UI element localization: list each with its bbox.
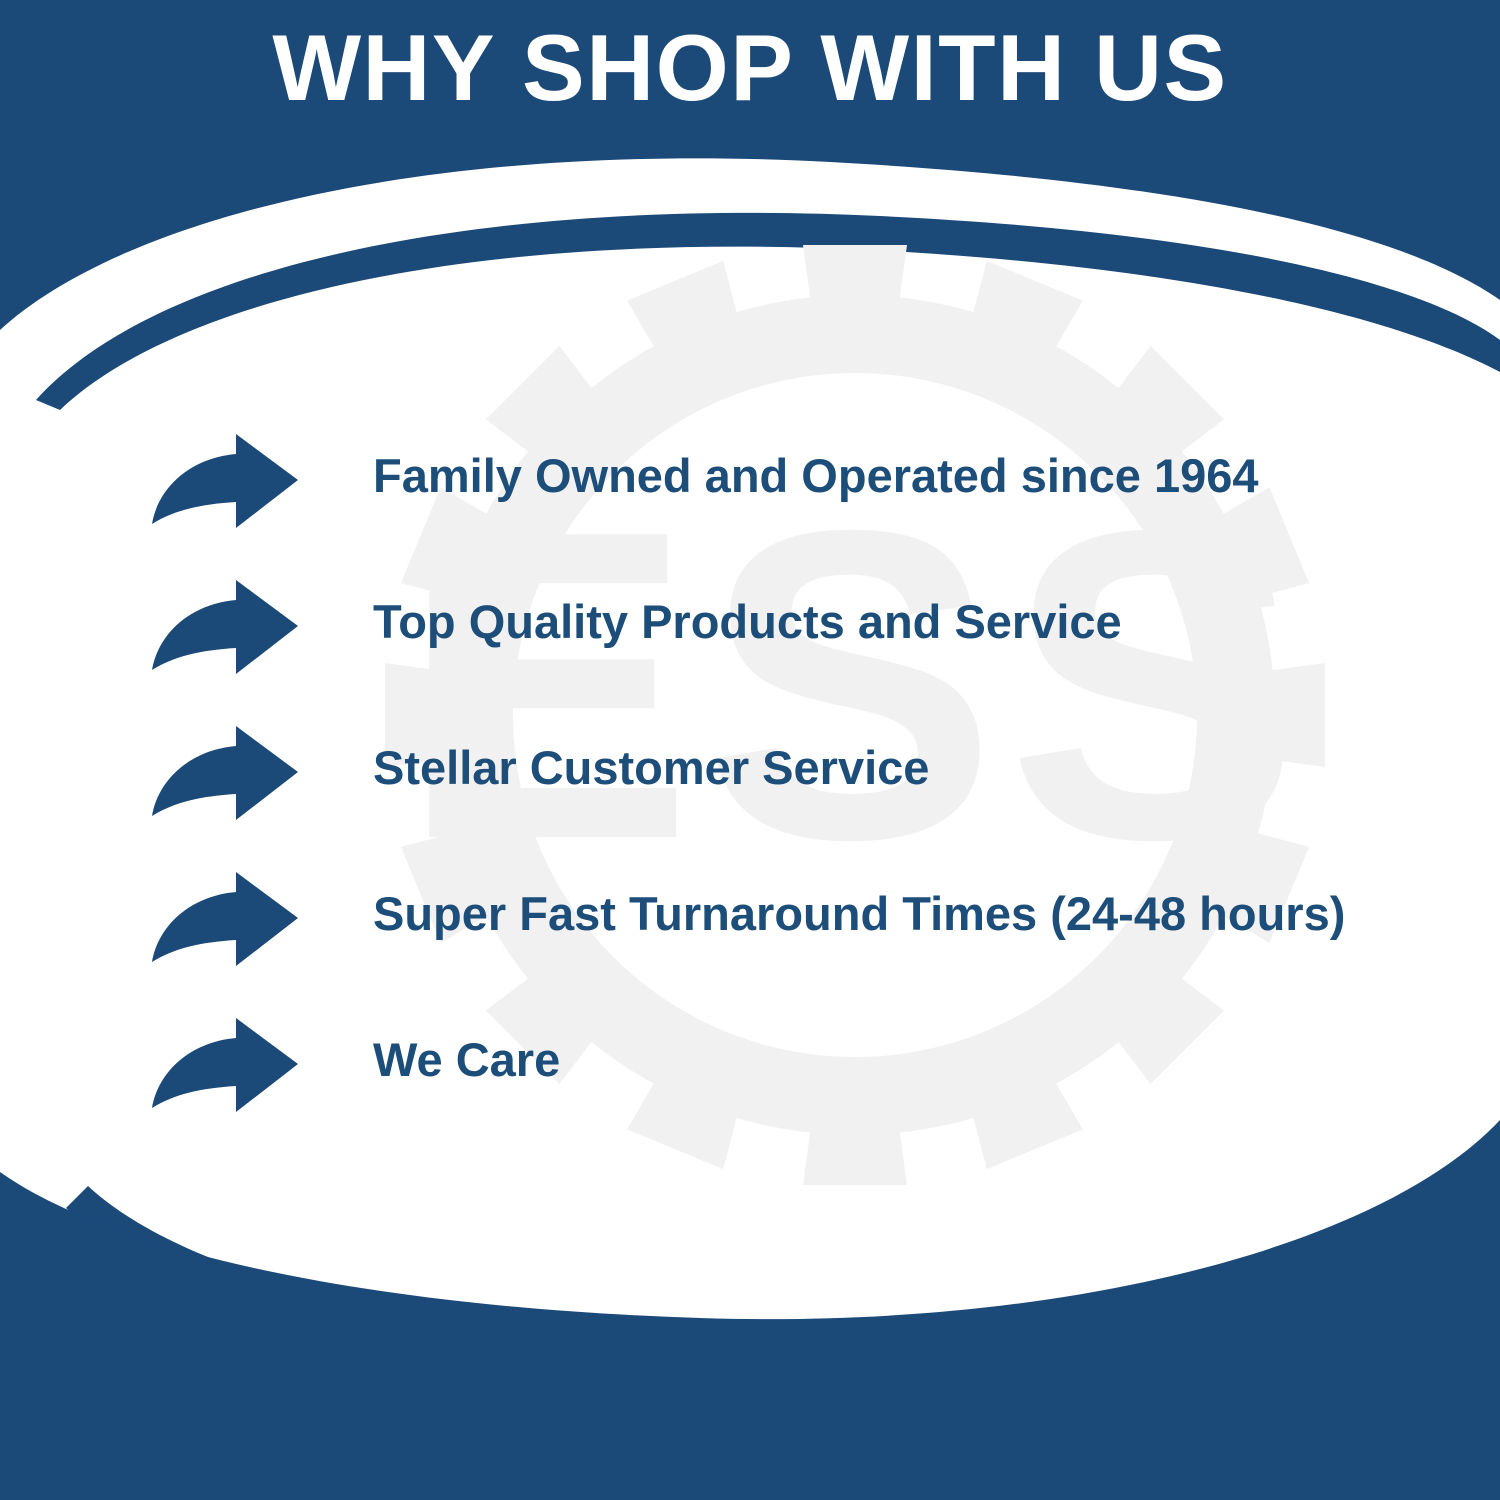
list-item-label: Family Owned and Operated since 1964: [373, 432, 1259, 499]
poster-header: WHY SHOP WITH US: [0, 0, 1500, 135]
list-item-label: Stellar Customer Service: [373, 724, 929, 791]
list-item: Super Fast Turnaround Times (24-48 hours…: [0, 870, 1500, 1016]
why-shop-with-us-poster: ESS WHY SHOP WITH US Family Owned and Op…: [0, 0, 1500, 1500]
curved-arrow-right-icon: [150, 432, 300, 536]
list-item-label: Super Fast Turnaround Times (24-48 hours…: [373, 870, 1345, 937]
curved-arrow-right-icon: [150, 1016, 300, 1120]
curved-arrow-right-icon: [150, 724, 300, 828]
page-title: WHY SHOP WITH US: [272, 21, 1227, 115]
curved-arrow-right-icon: [150, 578, 300, 682]
list-item-label: We Care: [373, 1016, 560, 1083]
list-item-label: Top Quality Products and Service: [373, 578, 1122, 645]
benefits-list: Family Owned and Operated since 1964 Top…: [0, 432, 1500, 1162]
list-item: Family Owned and Operated since 1964: [0, 432, 1500, 578]
list-item: We Care: [0, 1016, 1500, 1162]
list-item: Stellar Customer Service: [0, 724, 1500, 870]
list-item: Top Quality Products and Service: [0, 578, 1500, 724]
curved-arrow-right-icon: [150, 870, 300, 974]
